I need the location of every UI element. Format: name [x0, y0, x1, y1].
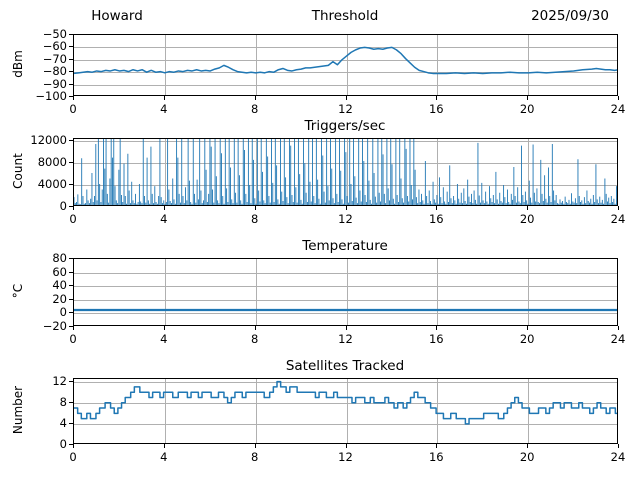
x-axis-tick-label: 12 [338, 212, 353, 226]
x-axis-tick-mark [527, 326, 528, 330]
y-axis-tick-label: 80 [52, 251, 67, 265]
x-axis-tick-label: 0 [69, 450, 76, 464]
y-axis-tick-label: 0 [60, 305, 67, 319]
y-axis-tick-label: 4000 [38, 177, 67, 191]
x-axis-tick-mark [73, 444, 74, 448]
x-axis-tick-mark [618, 444, 619, 448]
y-axis-tick-label: 20 [52, 292, 67, 306]
figure-canvas: Howard Threshold 2025/09/30 −100−90−80−7… [0, 0, 640, 480]
y-axis-label: dBm [11, 29, 25, 99]
x-axis-tick-mark [346, 96, 347, 100]
y-axis-tick-mark [69, 312, 73, 313]
x-axis-tick-label: 12 [338, 332, 353, 346]
y-axis-label: °C [11, 256, 25, 326]
x-axis-tick-label: 4 [160, 450, 167, 464]
x-axis-tick-label: 24 [611, 450, 626, 464]
x-axis-tick-mark [164, 444, 165, 448]
plot-area [73, 378, 618, 444]
y-axis-tick-mark [69, 381, 73, 382]
x-axis-tick-label: 4 [160, 212, 167, 226]
plot-area [73, 34, 618, 96]
x-axis-tick-label: 16 [429, 212, 444, 226]
panel-threshold: −100−90−80−70−60−5004812162024dBm [0, 30, 640, 120]
panel-title-satellites: Satellites Tracked [286, 358, 404, 374]
y-axis-tick-mark [69, 402, 73, 403]
x-axis-tick-mark [527, 96, 528, 100]
y-axis-tick-mark [69, 34, 73, 35]
y-axis-tick-label: 8 [60, 395, 67, 409]
y-axis-tick-label: −50 [43, 27, 67, 41]
date-label: 2025/09/30 [531, 8, 609, 24]
data-series [74, 35, 618, 96]
data-series [74, 259, 618, 326]
x-axis-tick-mark [73, 326, 74, 330]
y-axis-tick-label: 12 [52, 374, 67, 388]
x-axis-tick-mark [164, 96, 165, 100]
panel-title-triggers: Triggers/sec [305, 118, 386, 134]
x-axis-tick-mark [527, 206, 528, 210]
x-axis-tick-mark [255, 326, 256, 330]
panel-satellites: Satellites Tracked 0481204812162024Numbe… [0, 358, 640, 473]
x-axis-tick-mark [436, 444, 437, 448]
x-axis-tick-label: 12 [338, 102, 353, 116]
panel-title-temperature: Temperature [302, 238, 388, 254]
y-axis-tick-label: 8000 [38, 155, 67, 169]
panel-triggers: Triggers/sec 0400080001200004812162024Co… [0, 118, 640, 228]
y-axis-tick-label: 4 [60, 416, 67, 430]
figure-header: Howard Threshold 2025/09/30 [0, 8, 640, 30]
x-axis-tick-label: 20 [520, 212, 535, 226]
y-axis-tick-label: −80 [43, 64, 67, 78]
y-axis-tick-mark [69, 272, 73, 273]
y-axis-tick-label: 60 [52, 265, 67, 279]
y-axis-tick-mark [69, 423, 73, 424]
x-axis-tick-label: 24 [611, 102, 626, 116]
x-axis-tick-mark [73, 206, 74, 210]
y-axis-tick-mark [69, 46, 73, 47]
plot-area [73, 138, 618, 206]
x-axis-tick-label: 16 [429, 102, 444, 116]
x-axis-tick-mark [164, 206, 165, 210]
x-axis-tick-label: 20 [520, 332, 535, 346]
y-axis-label: Count [11, 136, 25, 206]
y-axis-tick-label: −90 [43, 77, 67, 91]
y-axis-tick-label: 0 [60, 437, 67, 451]
y-axis-tick-label: 12000 [30, 133, 67, 147]
x-axis-tick-mark [346, 444, 347, 448]
y-axis-tick-label: 40 [52, 278, 67, 292]
x-axis-tick-label: 8 [251, 450, 258, 464]
y-axis-tick-mark [69, 140, 73, 141]
y-axis-tick-mark [69, 184, 73, 185]
x-axis-tick-mark [255, 206, 256, 210]
y-axis-tick-label: −60 [43, 39, 67, 53]
y-axis-label: Number [11, 375, 25, 445]
x-axis-tick-mark [618, 326, 619, 330]
x-axis-tick-label: 12 [338, 450, 353, 464]
x-axis-tick-mark [527, 444, 528, 448]
x-axis-tick-mark [73, 96, 74, 100]
x-axis-tick-mark [436, 326, 437, 330]
x-axis-tick-label: 4 [160, 102, 167, 116]
y-axis-tick-label: −20 [43, 319, 67, 333]
x-axis-tick-label: 4 [160, 332, 167, 346]
data-series [74, 379, 618, 444]
x-axis-tick-label: 8 [251, 212, 258, 226]
x-axis-tick-label: 0 [69, 332, 76, 346]
y-axis-tick-label: 0 [60, 199, 67, 213]
y-axis-tick-mark [69, 59, 73, 60]
x-axis-tick-label: 8 [251, 332, 258, 346]
panel-temperature: Temperature −2002040608004812162024°C [0, 238, 640, 348]
x-axis-tick-mark [618, 206, 619, 210]
plot-area [73, 258, 618, 326]
x-axis-tick-mark [164, 326, 165, 330]
x-axis-tick-mark [436, 96, 437, 100]
x-axis-tick-label: 24 [611, 332, 626, 346]
y-axis-tick-mark [69, 299, 73, 300]
x-axis-tick-mark [436, 206, 437, 210]
x-axis-tick-label: 8 [251, 102, 258, 116]
x-axis-tick-label: 0 [69, 102, 76, 116]
data-series [74, 139, 618, 206]
x-axis-tick-mark [618, 96, 619, 100]
x-axis-tick-label: 24 [611, 212, 626, 226]
x-axis-tick-mark [255, 96, 256, 100]
y-axis-tick-mark [69, 258, 73, 259]
y-axis-tick-label: −70 [43, 52, 67, 66]
y-axis-tick-mark [69, 84, 73, 85]
x-axis-tick-label: 0 [69, 212, 76, 226]
x-axis-tick-mark [255, 444, 256, 448]
x-axis-tick-mark [346, 206, 347, 210]
x-axis-tick-label: 20 [520, 102, 535, 116]
y-axis-tick-mark [69, 285, 73, 286]
y-axis-tick-mark [69, 71, 73, 72]
station-name: Howard [91, 8, 143, 24]
y-axis-tick-mark [69, 162, 73, 163]
x-axis-tick-label: 16 [429, 450, 444, 464]
y-axis-tick-label: −100 [35, 89, 67, 103]
x-axis-tick-label: 16 [429, 332, 444, 346]
x-axis-tick-label: 20 [520, 450, 535, 464]
x-axis-tick-mark [346, 326, 347, 330]
panel-title-threshold: Threshold [312, 8, 379, 24]
